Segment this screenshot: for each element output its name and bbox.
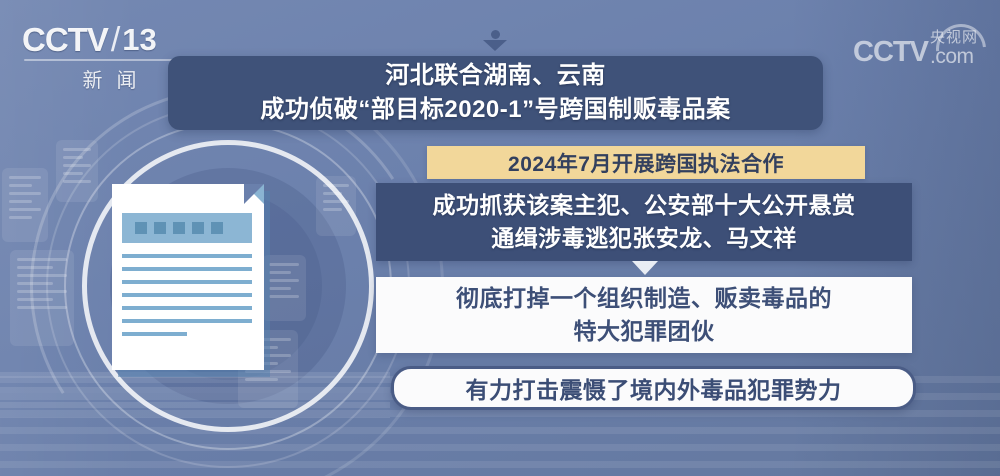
document-text-line: [122, 267, 252, 271]
document-icon: [112, 184, 264, 370]
cctvcom-swoosh-icon: [926, 14, 996, 84]
headline-line-2: 成功侦破“部目标2020-1”号跨国制贩毒品案: [260, 93, 730, 127]
navy-line-1: 成功抓获该案主犯、公安部十大公开悬赏: [433, 189, 856, 222]
headline-bar: 河北联合湖南、云南 成功侦破“部目标2020-1”号跨国制贩毒品案: [168, 56, 823, 130]
conclusion-pill: 有力打击震慑了境内外毒品犯罪势力: [391, 366, 916, 410]
cctv13-wordmark: CCTV: [22, 23, 108, 57]
cctv13-underline: [24, 59, 192, 61]
document-text-line: [122, 293, 252, 297]
document-text-lines: [122, 254, 252, 345]
top-pointer-triangle-icon: [483, 40, 507, 51]
ghost-document-icon: [56, 140, 98, 202]
gold-banner-text: 2024年7月开展跨国执法合作: [508, 148, 784, 178]
cctv13-slash: /: [111, 21, 120, 60]
white-text-block: 彻底打掉一个组织制造、贩卖毒品的 特大犯罪团伙: [376, 277, 912, 353]
white-line-1: 彻底打掉一个组织制造、贩卖毒品的: [456, 282, 832, 315]
cctv13-logo-row: CCTV / 13: [22, 22, 197, 58]
cctvcom-wordmark: CCTV: [853, 37, 928, 67]
navy-text-block: 成功抓获该案主犯、公安部十大公开悬赏 通缉涉毒逃犯张安龙、马文祥: [376, 183, 912, 261]
document-header-bar: [122, 213, 252, 243]
document-header-square: [154, 222, 166, 234]
headline-line-1: 河北联合湖南、云南: [385, 59, 606, 93]
white-line-2: 特大犯罪团伙: [574, 315, 715, 348]
cctv13-number: 13: [122, 22, 156, 58]
flow-arrow-triangle-icon: [632, 261, 658, 275]
document-header-square: [173, 222, 185, 234]
document-header-square: [192, 222, 204, 234]
cctvcom-logo: CCTV 央视网 .com: [853, 30, 978, 67]
gold-banner: 2024年7月开展跨国执法合作: [427, 146, 865, 179]
top-pointer-dot: [491, 30, 500, 39]
document-fold-cut: [244, 184, 264, 204]
ghost-document-icon: [10, 250, 74, 346]
document-header-square: [211, 222, 223, 234]
ghost-document-icon: [316, 176, 356, 236]
document-text-line: [122, 319, 252, 323]
ghost-document-icon: [2, 168, 48, 242]
document-header-square: [135, 222, 147, 234]
document-text-line-short: [122, 332, 187, 336]
document-text-line: [122, 306, 252, 310]
conclusion-pill-text: 有力打击震慑了境内外毒品犯罪势力: [466, 371, 842, 405]
document-text-line: [122, 254, 252, 258]
broadcast-graphic: CCTV / 13 新闻 CCTV 央视网 .com 河北联合湖南、云南 成功侦…: [0, 0, 1000, 476]
document-text-line: [122, 280, 252, 284]
document-illustration: [112, 184, 294, 380]
navy-line-2: 通缉涉毒逃犯张安龙、马文祥: [491, 222, 797, 255]
